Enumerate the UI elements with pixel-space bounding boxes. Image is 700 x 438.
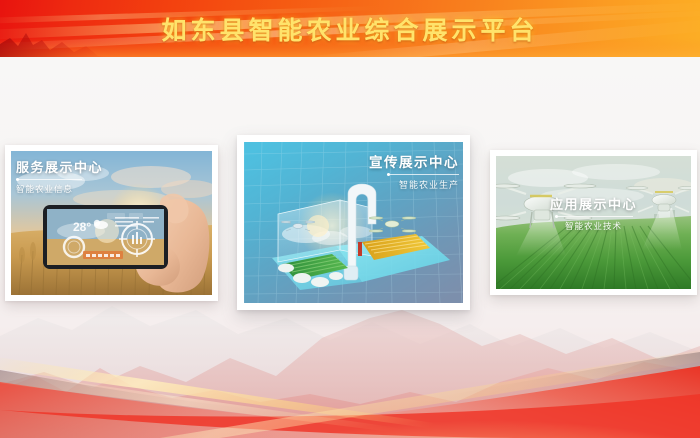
card-promotion-subtitle: 智能农业生产 bbox=[369, 178, 459, 191]
golden-light-rays bbox=[0, 298, 700, 438]
page-root: 如东县智能农业综合展示平台 bbox=[0, 0, 700, 438]
page-title: 如东县智能农业综合展示平台 bbox=[0, 0, 700, 57]
card-service-center[interactable]: 28° bbox=[5, 145, 218, 301]
card-application-caption: 应用展示中心 智能农业技术 bbox=[490, 194, 697, 232]
mountain-layer-near bbox=[0, 328, 700, 438]
caption-divider bbox=[16, 179, 82, 180]
mountain-layer-mid bbox=[0, 288, 700, 438]
card-promotion-caption: 宣传展示中心 智能农业生产 bbox=[369, 151, 459, 191]
caption-divider bbox=[555, 216, 633, 217]
header-banner: 如东县智能农业综合展示平台 bbox=[0, 0, 700, 57]
red-sweep-bands bbox=[0, 318, 700, 438]
caption-divider bbox=[387, 174, 459, 175]
card-service-subtitle: 智能农业信息 bbox=[16, 183, 103, 195]
card-application-subtitle: 智能农业技术 bbox=[490, 220, 697, 232]
card-application-title: 应用展示中心 bbox=[490, 194, 697, 213]
smartphone: 28° bbox=[43, 205, 168, 269]
phone-temperature: 28° bbox=[73, 220, 91, 234]
card-promotion-center[interactable]: 宣传展示中心 智能农业生产 bbox=[237, 135, 470, 310]
card-service-caption: 服务展示中心 智能农业信息 bbox=[16, 157, 103, 195]
card-promotion-title: 宣传展示中心 bbox=[369, 151, 459, 171]
card-application-center[interactable]: 应用展示中心 智能农业技术 bbox=[490, 150, 697, 295]
card-service-title: 服务展示中心 bbox=[16, 157, 103, 176]
